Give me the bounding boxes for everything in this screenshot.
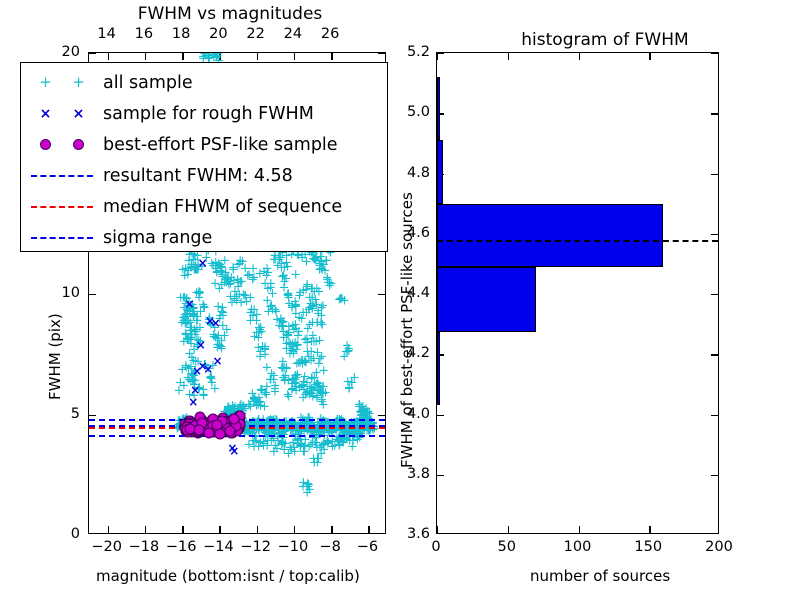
y-tick [711,354,718,355]
data-point: + [226,296,237,309]
data-point: + [256,325,267,338]
plus-icon: + [39,75,52,90]
data-point: + [173,385,184,398]
x-tick-top [331,53,332,60]
legend-item: median FHWM of sequence [21,191,387,222]
x-tick-top [257,53,258,60]
data-point: + [334,294,345,307]
right-panel-title: histogram of FWHM [455,30,755,50]
x-tick [257,526,258,533]
data-point: + [260,278,271,291]
reference-line-resultant-fwhm [437,240,718,242]
y-tick [711,475,718,476]
data-point: + [326,278,337,291]
x-tick [331,526,332,533]
y-tick [89,294,96,295]
x-tick-label-bottom: −6 [357,539,378,555]
legend-label: resultant FWHM: 4.58 [103,166,293,186]
y-tick [711,53,718,54]
data-point: + [260,349,271,362]
data-point: × [229,445,239,457]
x-tick [219,526,220,533]
data-point: + [343,343,354,356]
x-tick [368,526,369,533]
circle-icon [73,139,84,150]
figure-canvas: FWHM vs magnitudes 14161820222426 −20−18… [0,0,800,600]
y-tick [89,53,96,54]
data-point: + [270,385,281,398]
data-point: + [240,263,251,276]
data-point: + [297,380,308,393]
data-point: × [198,257,208,269]
y-tick [711,294,718,295]
x-tick-top [108,53,109,60]
right-plot-area[interactable] [436,52,719,534]
data-point: + [321,255,332,268]
data-point: + [295,286,306,299]
data-point: + [193,287,204,300]
x-tick [579,53,580,60]
x-tick [508,53,509,60]
data-point: + [251,309,262,322]
x-tick [508,526,509,533]
x-tick [649,53,650,60]
data-point: × [211,317,221,329]
right-panel-ylabel: FWHM of best-effort PSF-like sources [398,192,416,468]
legend-item: resultant FWHM: 4.58 [21,160,387,191]
histogram-bar [437,204,663,267]
data-point [229,413,240,424]
y-tick-label: 5.2 [407,44,430,60]
data-point: + [222,271,233,284]
data-point: × [185,298,195,310]
x-tick-label: 200 [705,539,733,555]
legend-label: sample for rough FWHM [103,104,314,124]
data-point: + [268,445,279,458]
legend-label: best-effort PSF-like sample [103,135,338,155]
x-tick-label: 0 [431,539,440,555]
y-tick [711,174,718,175]
histogram-bar [437,332,440,406]
x-tick-label-bottom: −12 [240,539,271,555]
x-tick [182,526,183,533]
circle-icon [40,139,51,150]
x-tick [579,526,580,533]
data-point: + [308,453,319,466]
y-tick [437,475,444,476]
x-tick [294,526,295,533]
histogram-bar [437,77,440,140]
data-point: + [318,299,329,312]
data-point: + [245,427,256,440]
data-point: × [212,355,222,367]
data-point: + [302,346,313,359]
legend-label: median FHWM of sequence [103,197,342,217]
legend-item: best-effort PSF-like sample [21,129,387,160]
y-tick [378,415,385,416]
data-point: + [239,290,250,303]
plus-icon: + [72,75,85,90]
data-point: × [190,384,200,396]
data-point: + [255,399,266,412]
data-point: + [319,444,330,457]
y-tick-label: 3.8 [407,466,430,482]
x-tick [145,526,146,533]
data-point: × [192,365,202,377]
data-point: + [297,480,308,493]
legend: ++all sample××sample for rough FWHMbest-… [20,62,388,252]
data-point: + [282,389,293,402]
legend-marker: ++ [21,75,103,90]
data-point: × [196,339,206,351]
x-tick-label-bottom: −20 [91,539,122,555]
x-tick-label: 100 [564,539,592,555]
x-tick-label-top: 24 [284,26,302,42]
cross-icon: × [40,107,52,121]
data-point: + [214,340,225,353]
legend-item: ++all sample [21,67,387,98]
histogram-bar [437,140,443,203]
x-tick [437,526,438,533]
data-point: + [279,443,290,456]
histogram-bar [437,267,536,332]
cross-icon: × [73,107,85,121]
x-tick-label-bottom: −16 [166,539,197,555]
y-tick-label: 3.6 [407,526,430,542]
dashed-blue-line-icon [31,175,93,177]
data-point: + [275,251,286,264]
y-tick [89,415,96,416]
left-panel-xlabel: magnitude (bottom:isnt / top:calib) [96,567,360,585]
data-point: + [296,438,307,451]
x-tick-label-top: 14 [97,26,115,42]
legend-item: ××sample for rough FWHM [21,98,387,129]
legend-label: sigma range [103,228,212,248]
x-tick [108,526,109,533]
data-point: + [180,262,191,275]
data-point: × [188,396,198,408]
legend-marker [21,175,103,177]
legend-marker [21,206,103,208]
data-point: + [277,317,288,330]
y-tick [711,234,718,235]
x-tick-label-bottom: −8 [319,539,340,555]
data-point: + [344,382,355,395]
data-point: + [283,330,294,343]
x-tick-top [145,53,146,60]
y-tick [378,53,385,54]
y-tick [437,415,444,416]
legend-item: sigma range [21,222,387,253]
y-tick [711,415,718,416]
data-point: + [285,347,296,360]
data-point [225,425,236,436]
data-point: + [317,387,328,400]
x-tick-label-bottom: −18 [129,539,160,555]
y-tick-label: 5 [71,406,80,422]
x-tick-label-top: 18 [172,26,190,42]
legend-marker [21,237,103,239]
y-tick-label: 10 [62,285,80,301]
dashed-red-line-icon [31,206,93,208]
x-tick-label-bottom: −10 [278,539,309,555]
x-tick-label-bottom: −14 [203,539,234,555]
x-tick-label: 50 [498,539,516,555]
data-point: + [211,53,222,57]
y-tick [378,294,385,295]
y-tick [711,113,718,114]
y-tick-label: 20 [62,44,80,60]
data-point [185,423,196,434]
x-tick-label-top: 20 [209,26,227,42]
y-tick-label: 5.0 [407,104,430,120]
left-panel-ylabel: FWHM (pix) [46,313,64,400]
data-point: + [307,303,318,316]
x-tick-top [182,53,183,60]
x-tick [649,526,650,533]
legend-label: all sample [103,73,193,93]
y-tick-label: 0 [71,526,80,542]
legend-marker [21,139,103,150]
legend-marker: ×× [21,107,103,121]
x-tick-top [294,53,295,60]
right-panel-xlabel: number of sources [530,567,670,585]
dashdot-blue-line-icon [31,237,93,239]
y-tick-label: 4.8 [407,165,430,181]
left-panel-title: FWHM vs magnitudes [90,4,370,24]
x-tick-label-top: 16 [135,26,153,42]
data-point: + [283,291,294,304]
x-tick-label-top: 22 [246,26,264,42]
x-tick-label-top: 26 [321,26,339,42]
y-tick [437,53,444,54]
x-tick-label: 150 [634,539,662,555]
